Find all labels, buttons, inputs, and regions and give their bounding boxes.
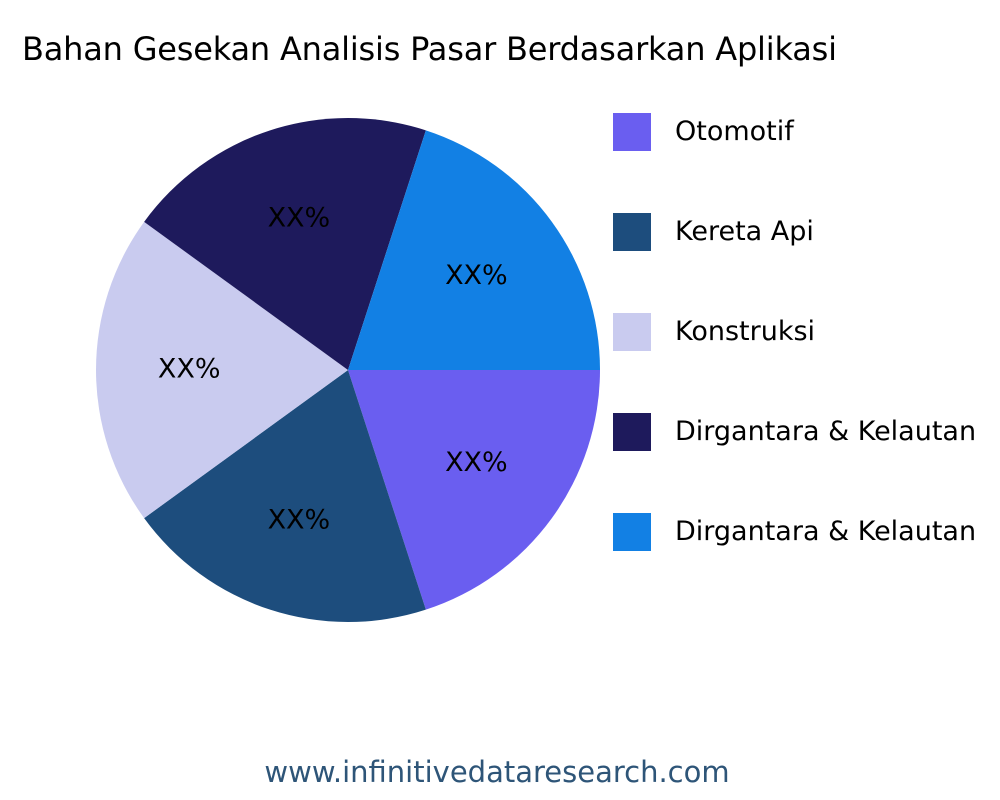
legend-item[interactable]: Dirgantara & Kelautan — [613, 412, 976, 452]
chart-legend: OtomotifKereta ApiKonstruksiDirgantara &… — [613, 112, 1000, 582]
legend-swatch-icon — [613, 513, 651, 551]
legend-swatch-icon — [613, 213, 651, 251]
pie-chart: XX%XX%XX%XX%XX% — [0, 0, 700, 740]
legend-swatch-icon — [613, 313, 651, 351]
pie-slice-label: XX% — [268, 203, 331, 234]
pie-slice-label: XX% — [445, 260, 508, 291]
legend-item[interactable]: Otomotif — [613, 112, 794, 152]
legend-item-label: Dirgantara & Kelautan — [675, 417, 976, 447]
pie-chart-svg: XX%XX%XX%XX%XX% — [0, 0, 700, 740]
pie-slice-label: XX% — [268, 505, 331, 536]
pie-slice-label: XX% — [158, 354, 221, 385]
legend-item[interactable]: Dirgantara & Kelautan — [613, 512, 976, 552]
legend-item-label: Dirgantara & Kelautan — [675, 517, 976, 547]
legend-swatch-icon — [613, 113, 651, 151]
legend-item-label: Kereta Api — [675, 217, 814, 247]
legend-item-label: Konstruksi — [675, 317, 815, 347]
chart-page: Bahan Gesekan Analisis Pasar Berdasarkan… — [0, 0, 1000, 800]
legend-item[interactable]: Konstruksi — [613, 312, 815, 352]
legend-item[interactable]: Kereta Api — [613, 212, 814, 252]
legend-swatch-icon — [613, 413, 651, 451]
pie-slice-label: XX% — [445, 447, 508, 478]
source-url[interactable]: www.infinitivedataresearch.com — [0, 755, 1000, 789]
legend-item-label: Otomotif — [675, 117, 794, 147]
